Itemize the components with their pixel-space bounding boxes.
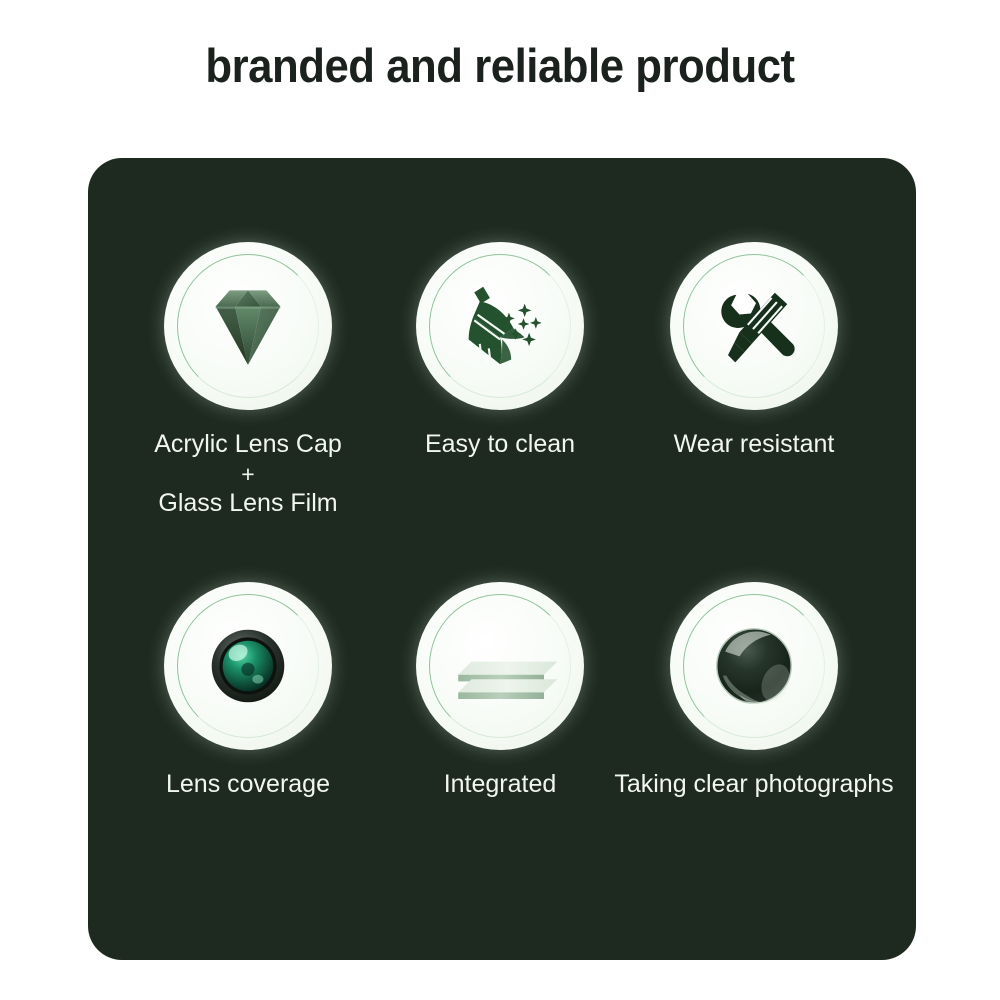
wrench-screwdriver-icon: [702, 274, 806, 378]
feature-grid: Acrylic Lens Cap + Glass Lens Film: [88, 158, 916, 960]
feature-label: Acrylic Lens Cap: [154, 428, 342, 461]
feature-item-easy-to-clean[interactable]: Easy to clean: [362, 242, 638, 461]
diamond-icon: [194, 272, 302, 380]
feature-item-taking-clear-photographs[interactable]: Taking clear photographs: [616, 582, 892, 801]
feature-label-plus: +: [241, 461, 254, 487]
feature-label-second: Glass Lens Film: [158, 487, 337, 520]
feature-item-integrated[interactable]: Integrated: [362, 582, 638, 801]
feature-label: Easy to clean: [425, 428, 575, 461]
page-title: branded and reliable product: [35, 38, 965, 93]
camera-lens-icon: [193, 611, 303, 721]
feature-badge: [164, 582, 332, 750]
feature-badge: [670, 242, 838, 410]
feature-item-wear-resistant[interactable]: Wear resistant: [616, 242, 892, 461]
feature-panel: Acrylic Lens Cap + Glass Lens Film: [88, 158, 916, 960]
feature-badge: [416, 582, 584, 750]
feature-label: Integrated: [444, 768, 557, 801]
feature-item-acrylic-lens-cap[interactable]: Acrylic Lens Cap + Glass Lens Film: [110, 242, 386, 520]
feature-badge: [670, 582, 838, 750]
feature-badge: [416, 242, 584, 410]
broom-sparkle-icon: [444, 270, 556, 382]
feature-label: Lens coverage: [166, 768, 330, 801]
feature-label: Taking clear photographs: [614, 768, 893, 801]
glass-layers-icon: [434, 600, 566, 732]
glossy-dome-icon: [694, 606, 814, 726]
feature-label: Wear resistant: [674, 428, 835, 461]
feature-badge: [164, 242, 332, 410]
feature-item-lens-coverage[interactable]: Lens coverage: [110, 582, 386, 801]
